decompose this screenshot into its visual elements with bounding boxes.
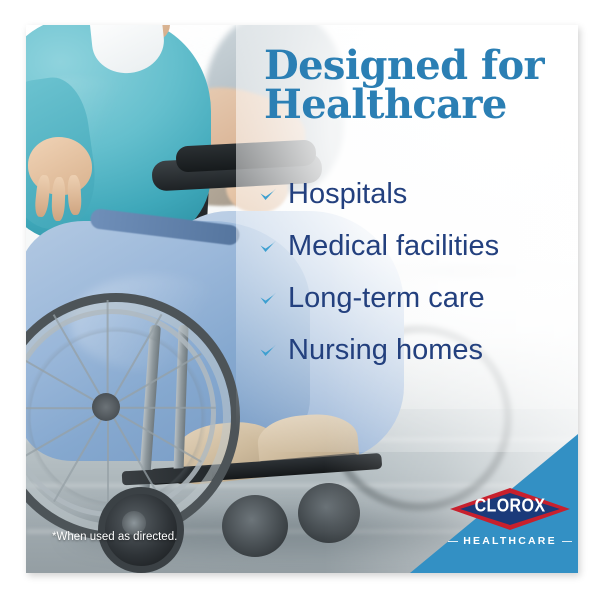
healthcare-lockup: HEALTHCARE bbox=[448, 535, 572, 547]
check-icon bbox=[258, 341, 278, 361]
headline: Designed for Healthcare bbox=[264, 46, 564, 124]
list-item: Long-term care bbox=[258, 284, 578, 336]
rule-left bbox=[448, 541, 458, 542]
healthcare-wordmark: HEALTHCARE bbox=[463, 535, 557, 547]
list-item-label: Medical facilities bbox=[288, 232, 499, 261]
rule-right bbox=[562, 541, 572, 542]
ad-canvas: Designed for Healthcare Hospitals bbox=[0, 0, 600, 600]
headline-line-2: Healthcare bbox=[264, 85, 564, 124]
check-icon bbox=[258, 237, 278, 257]
list-item: Hospitals bbox=[258, 180, 578, 232]
clorox-diamond: CLOROX bbox=[448, 487, 572, 531]
list-item-label: Hospitals bbox=[288, 180, 407, 209]
check-icon bbox=[258, 185, 278, 205]
list-item-label: Nursing homes bbox=[288, 336, 483, 365]
wheelchair-hub bbox=[92, 393, 120, 421]
footnote: *When used as directed. bbox=[52, 531, 177, 543]
list-item: Medical facilities bbox=[258, 232, 578, 284]
clorox-wordmark: CLOROX bbox=[448, 496, 572, 517]
list-item: Nursing homes bbox=[258, 336, 578, 388]
wheelchair-spokes bbox=[26, 293, 222, 523]
list-item-label: Long-term care bbox=[288, 284, 485, 313]
wheelchair-caster-wheel bbox=[222, 495, 288, 557]
check-icon bbox=[258, 289, 278, 309]
clorox-healthcare-logo: CLOROX HEALTHCARE bbox=[448, 487, 572, 547]
benefits-list: Hospitals Medical facilities Long-term c… bbox=[258, 180, 578, 388]
product-photo: Designed for Healthcare Hospitals bbox=[26, 25, 578, 573]
headline-line-1: Designed for bbox=[264, 46, 564, 85]
